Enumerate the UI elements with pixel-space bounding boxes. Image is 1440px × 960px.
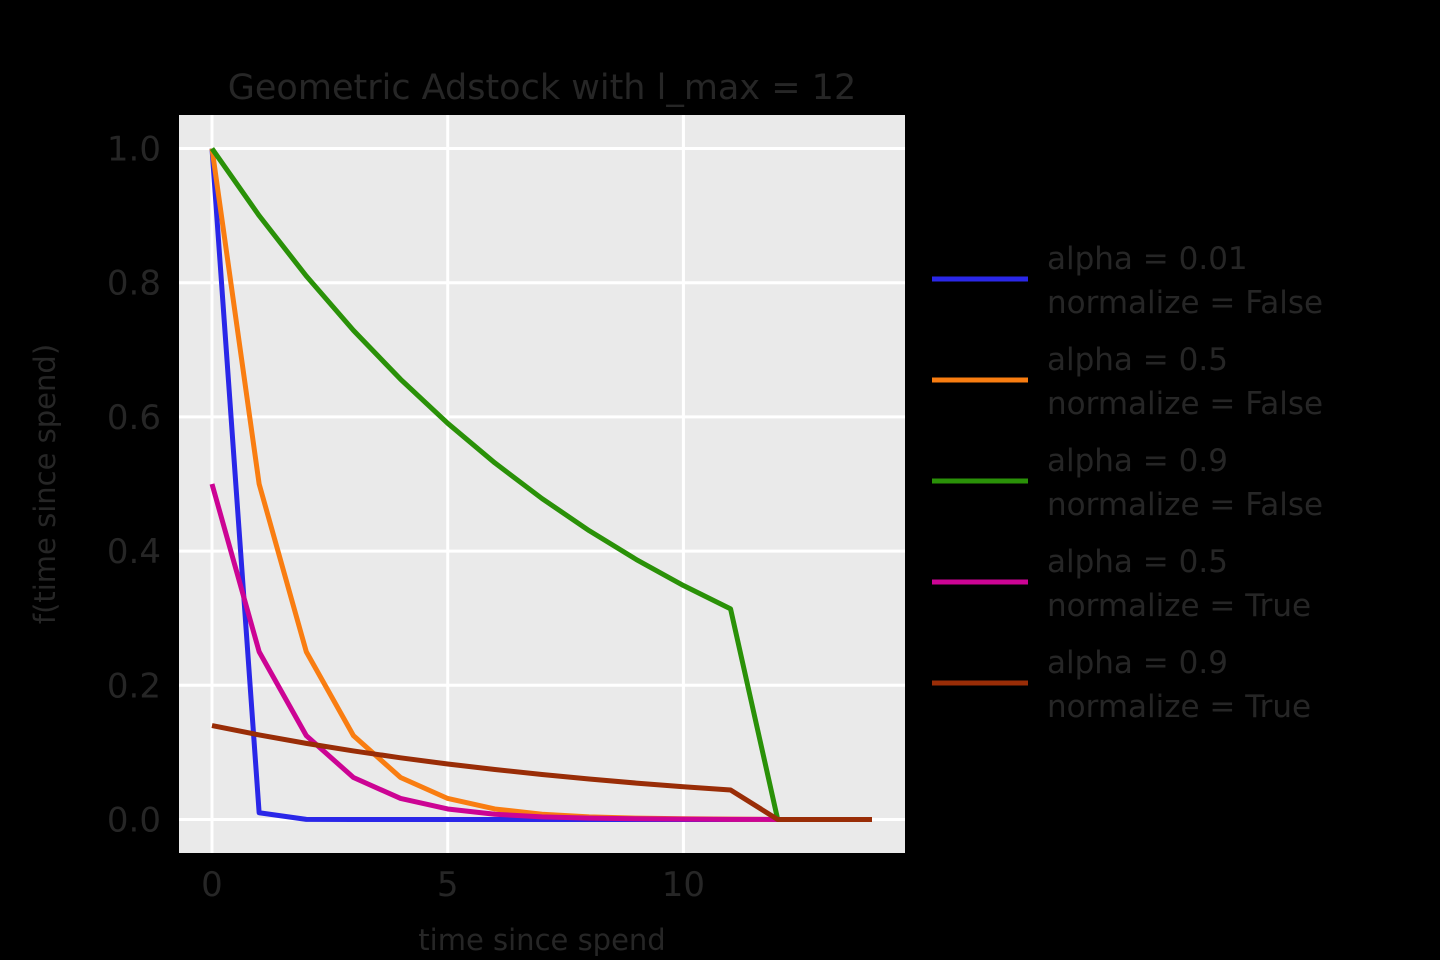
chart-figure: 0510 0.00.20.40.60.81.0 Geometric Adstoc… <box>0 0 1440 960</box>
y-tick-label: 1.0 <box>107 130 161 170</box>
x-tick-label: 0 <box>201 865 223 905</box>
legend-label-alpha-1: alpha = 0.5 <box>1047 342 1228 378</box>
y-tick-label: 0.6 <box>107 398 161 438</box>
y-tick-label: 0.2 <box>107 666 161 706</box>
y-tick-label: 0.4 <box>107 532 161 572</box>
legend-label-alpha-0: alpha = 0.01 <box>1047 241 1248 277</box>
x-tick-label: 10 <box>662 865 705 905</box>
legend-label-normalize-4: normalize = True <box>1047 689 1311 725</box>
legend-label-alpha-4: alpha = 0.9 <box>1047 645 1228 681</box>
legend-label-normalize-1: normalize = False <box>1047 386 1323 422</box>
legend-label-alpha-3: alpha = 0.5 <box>1047 544 1228 580</box>
x-axis-title: time since spend <box>418 923 665 957</box>
chart-title: Geometric Adstock with l_max = 12 <box>228 68 856 108</box>
legend-label-normalize-0: normalize = False <box>1047 285 1323 321</box>
y-tick-label: 0.0 <box>107 800 161 840</box>
legend-label-normalize-2: normalize = False <box>1047 487 1323 523</box>
geometric-adstock-line-chart: 0510 0.00.20.40.60.81.0 Geometric Adstoc… <box>0 0 1440 960</box>
y-tick-label: 0.8 <box>107 264 161 304</box>
legend-label-alpha-2: alpha = 0.9 <box>1047 443 1228 479</box>
legend-label-normalize-3: normalize = True <box>1047 588 1311 624</box>
x-tick-label: 5 <box>437 865 459 905</box>
y-axis-title: f(time since spend) <box>28 344 62 624</box>
